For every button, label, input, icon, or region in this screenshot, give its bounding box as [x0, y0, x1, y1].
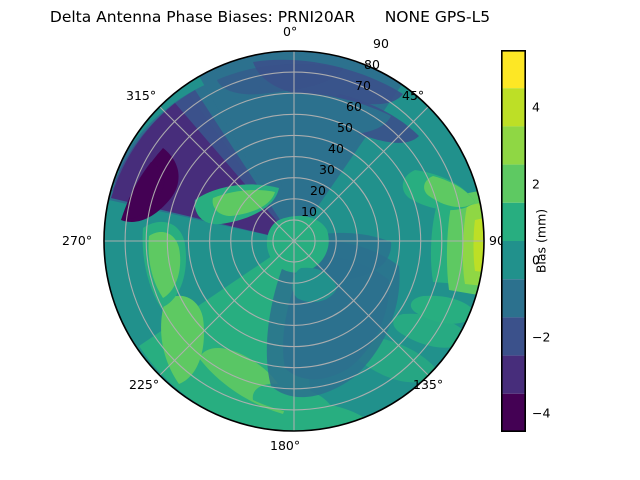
- theta-tick-135: 135°: [413, 377, 443, 392]
- r-tick-70: 70: [355, 78, 371, 93]
- polar-grid: [104, 51, 484, 431]
- r-tick-80: 80: [364, 57, 380, 72]
- r-tick-10: 10: [301, 204, 317, 219]
- figure-title: Delta Antenna Phase Biases: PRNI20AR NON…: [0, 8, 540, 26]
- r-tick-30: 30: [319, 162, 335, 177]
- colorbar-axis-label: Bias (mm): [534, 209, 549, 273]
- colorbar[interactable]: 4 2 0 −2 −4: [501, 50, 526, 432]
- r-tick-90: 90: [373, 36, 389, 51]
- theta-tick-225: 225°: [129, 377, 159, 392]
- r-tick-20: 20: [310, 183, 326, 198]
- colorbar-tick-2: 2: [532, 176, 540, 191]
- colorbar-tick-4: 4: [532, 100, 540, 115]
- theta-tick-45: 45°: [402, 88, 424, 103]
- colorbar-tick-neg2: −2: [532, 329, 550, 344]
- theta-tick-315: 315°: [126, 88, 156, 103]
- theta-tick-270: 270°: [62, 233, 92, 248]
- r-tick-40: 40: [328, 141, 344, 156]
- polar-axes[interactable]: 0° 45° 90 135° 180° 225° 270° 315° 10 20…: [103, 50, 485, 432]
- theta-tick-0: 0°: [283, 24, 297, 39]
- colorbar-gradient: [501, 50, 526, 432]
- polar-contour-plot: [103, 50, 485, 432]
- figure-canvas: Delta Antenna Phase Biases: PRNI20AR NON…: [0, 0, 640, 480]
- r-tick-50: 50: [337, 120, 353, 135]
- theta-tick-180: 180°: [270, 438, 300, 453]
- r-tick-60: 60: [346, 99, 362, 114]
- colorbar-tick-neg4: −4: [532, 405, 550, 420]
